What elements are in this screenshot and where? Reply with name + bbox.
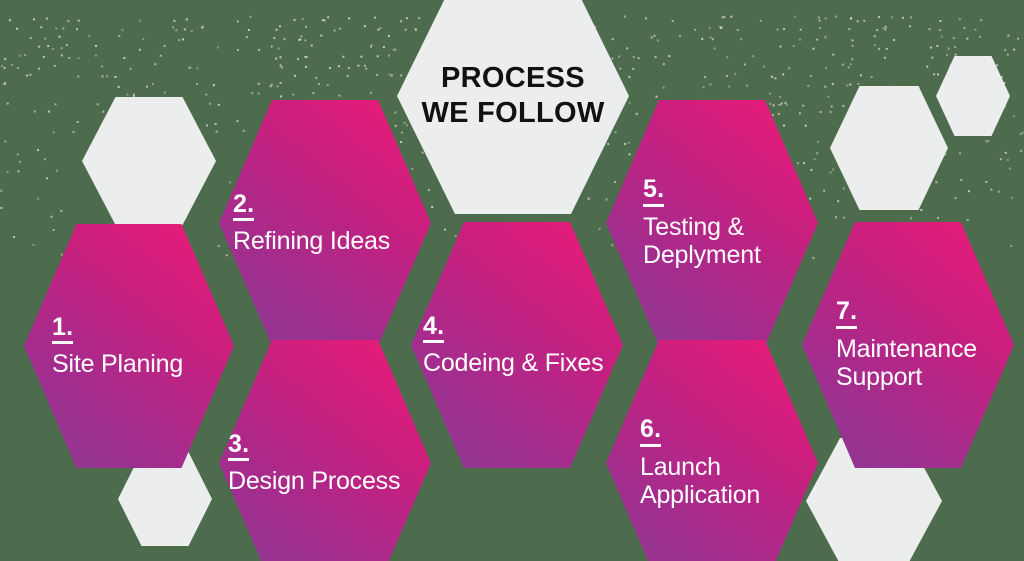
- step-1-label: Site Planing: [52, 350, 234, 379]
- step-6-number: 6.: [640, 416, 661, 446]
- decorative-hexagon-top-right: [830, 86, 948, 210]
- step-5-number: 5.: [643, 176, 664, 206]
- step-5-body: 5. Testing & Deplyment: [606, 176, 818, 269]
- process-step-2[interactable]: 2. Refining Ideas: [219, 100, 431, 346]
- step-6-label: Launch Application: [640, 453, 818, 510]
- step-4-body: 4. Codeing & Fixes: [411, 313, 623, 378]
- step-4-label: Codeing & Fixes: [423, 349, 623, 378]
- step-3-label: Design Process: [228, 467, 431, 496]
- step-2-label: Refining Ideas: [233, 227, 431, 256]
- step-6-body: 6. Launch Application: [606, 416, 818, 509]
- process-step-5[interactable]: 5. Testing & Deplyment: [606, 100, 818, 346]
- infographic-canvas: 1. Site Planing 2. Refining Ideas 3. Des…: [0, 0, 1024, 561]
- step-4-number: 4.: [423, 313, 444, 343]
- step-1-number: 1.: [52, 314, 73, 344]
- process-step-7[interactable]: 7. Maintenance Support: [802, 222, 1014, 468]
- step-5-label: Testing & Deplyment: [643, 213, 818, 270]
- step-7-body: 7. Maintenance Support: [802, 298, 1014, 391]
- process-step-1[interactable]: 1. Site Planing: [24, 224, 234, 468]
- step-2-number: 2.: [233, 191, 254, 221]
- decorative-hexagon-top-left: [82, 97, 216, 225]
- step-7-number: 7.: [836, 298, 857, 328]
- process-step-4[interactable]: 4. Codeing & Fixes: [411, 222, 623, 468]
- step-7-label: Maintenance Support: [836, 335, 1014, 392]
- decorative-hexagon-far-top-right: [936, 56, 1010, 136]
- step-3-body: 3. Design Process: [219, 431, 431, 496]
- process-step-3[interactable]: 3. Design Process: [219, 340, 431, 561]
- step-3-number: 3.: [228, 431, 249, 461]
- process-step-6[interactable]: 6. Launch Application: [606, 340, 818, 561]
- step-1-body: 1. Site Planing: [24, 314, 234, 379]
- step-2-body: 2. Refining Ideas: [219, 191, 431, 256]
- infographic-title: PROCESS WE FOLLOW: [421, 61, 604, 132]
- center-hexagon: PROCESS WE FOLLOW: [397, 0, 629, 214]
